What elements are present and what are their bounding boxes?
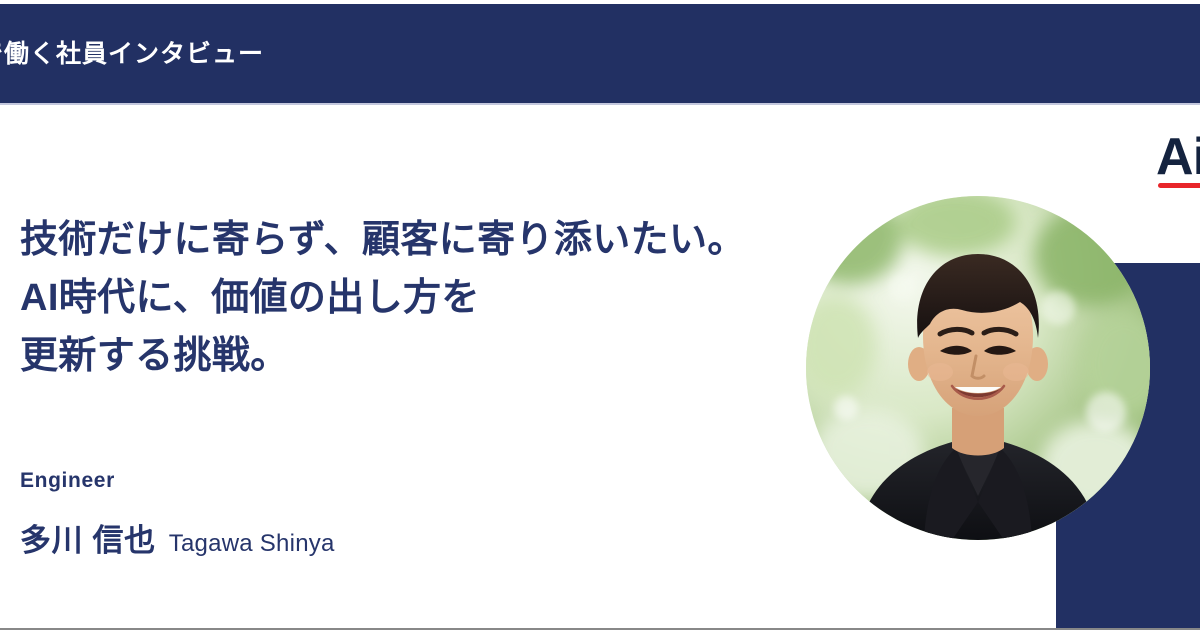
- headline: 技術だけに寄らず、顧客に寄り添いたい。 AI時代に、価値の出し方を 更新する挑戦…: [20, 212, 810, 385]
- banner-title: で働く社員インタビュー: [0, 39, 264, 69]
- profile-name-en: Tagawa Shinya: [169, 530, 335, 559]
- brand-accent-swoosh-icon: [1158, 183, 1200, 188]
- profile-name: 多川 信也 Tagawa Shinya: [20, 522, 335, 559]
- brand-logo: Ai: [1156, 131, 1200, 193]
- headline-line-1: 技術だけに寄らず、顧客に寄り添いたい。: [20, 212, 810, 270]
- portrait-photo-circle: [806, 196, 1150, 540]
- interview-ogp-card: で働く社員インタビュー Ai: [0, 0, 1200, 630]
- profile-role: Engineer: [20, 468, 115, 493]
- portrait-image: [806, 196, 1150, 540]
- profile-name-ja: 多川 信也: [20, 522, 156, 559]
- brand-wordmark: Ai: [1156, 131, 1200, 183]
- headline-line-2: AI時代に、価値の出し方を: [20, 270, 810, 328]
- banner-underline-rule: [0, 103, 1200, 105]
- headline-line-3: 更新する挑戦。: [20, 328, 810, 386]
- page-banner: で働く社員インタビュー: [0, 4, 1200, 103]
